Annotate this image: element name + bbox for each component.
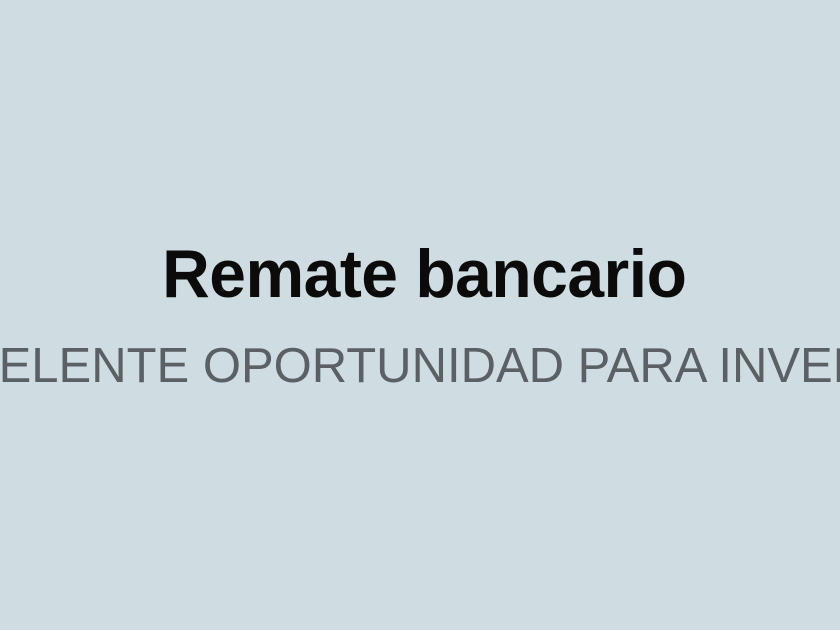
promo-banner: Remate bancario EXCELENTE OPORTUNIDAD PA…: [0, 0, 840, 630]
page-subtitle: EXCELENTE OPORTUNIDAD PARA INVERTIR: [0, 342, 840, 391]
subtitle-container: EXCELENTE OPORTUNIDAD PARA INVERTIR: [0, 342, 840, 391]
page-title: Remate bancario: [162, 240, 686, 308]
banner-text-block: Remate bancario EXCELENTE OPORTUNIDAD PA…: [0, 0, 840, 630]
